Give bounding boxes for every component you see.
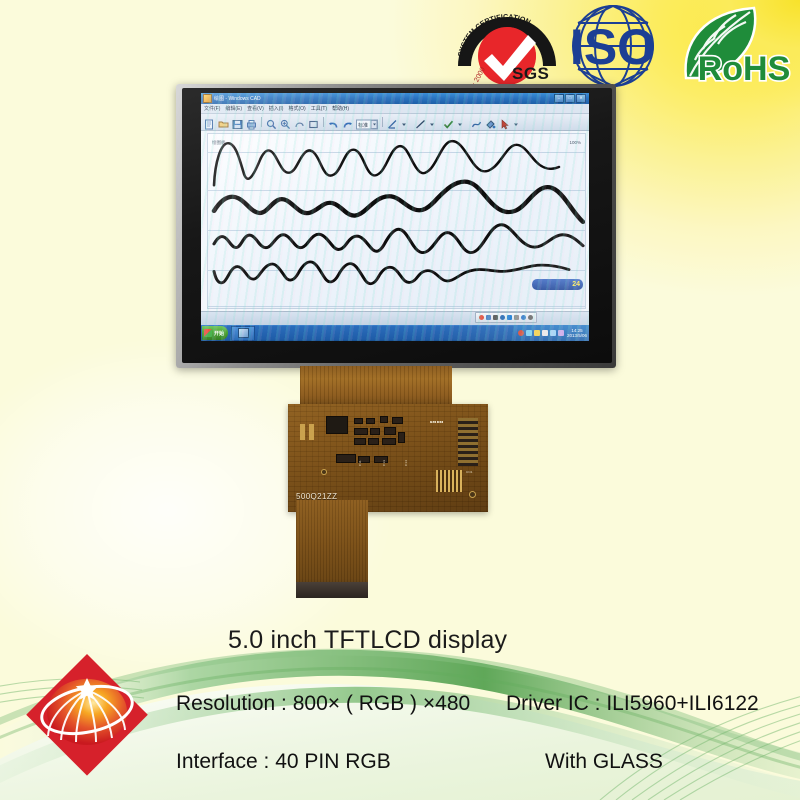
driver-pcb: R25 R26 R21 R14 R13 R18 R23 R24 R17 R19 … [288,404,488,512]
shield-icon[interactable] [526,330,532,336]
new-icon[interactable] [204,117,215,128]
taskbar-clock[interactable]: 14:25 2013/5/06 [567,328,587,338]
canvas-area[interactable]: 绘图板 100% 24 [201,131,589,311]
panel-icon[interactable] [514,315,519,320]
menu-file[interactable]: 文件(F) [204,105,220,112]
menu-format[interactable]: 格式(O) [288,105,305,112]
badge-value: 24 [572,281,580,288]
taskbar-window-button[interactable] [231,326,255,341]
silk-c11: C11 [358,460,362,466]
curve-icon[interactable] [471,117,482,128]
silk-c14: C14 [404,460,408,466]
window-title: 绘图 - Windows CAD [214,95,261,102]
download-icon[interactable] [507,315,512,320]
start-label: 开始 [214,330,224,337]
svg-text:标准: 标准 [358,122,368,129]
print-icon[interactable] [246,117,257,128]
company-logo [22,650,152,780]
close-button[interactable]: ✕ [576,94,586,103]
product-title: 5.0 inch TFTLCD display [228,626,507,655]
window-titlebar: 绘图 - Windows CAD – □ ✕ [201,93,589,104]
clock-date: 2013/5/06 [567,333,587,338]
iso-logo: ISO [558,2,668,90]
window-thumb-icon [238,328,249,338]
chevron-down-icon-4[interactable] [513,117,524,128]
chevron-down-icon-2[interactable] [429,117,440,128]
product-photo: SYSTEM CERTIFICATION ISO 9001: 2000 SGS … [0,0,800,800]
smd-8 [354,438,366,445]
toolbar[interactable]: 标准 [201,114,589,131]
fpc-connector-end [296,582,368,598]
save-icon[interactable] [232,117,243,128]
undo-shape-icon[interactable] [294,117,305,128]
menu-edit[interactable]: 编辑(E) [225,105,242,112]
style-combobox[interactable]: 标准 [356,117,378,128]
floating-badge[interactable]: 24 [532,279,583,290]
driver-ic-spec: Driver IC : ILI5960+ILI6122 [506,692,759,716]
zoom-icon[interactable] [280,117,291,128]
rect-icon[interactable] [308,117,319,128]
smd-4 [392,417,403,424]
menu-bar[interactable]: 文件(F) 编辑(E) 查看(V) 插入(I) 格式(O) 工具(T) 帮助(H… [201,104,589,114]
maximize-button[interactable]: □ [565,94,575,103]
search-icon[interactable] [266,117,277,128]
smd-9 [368,438,379,445]
document-page[interactable]: 绘图板 100% 24 [207,133,586,309]
fpc-ribbon-upper [300,366,452,408]
smd-5 [354,428,368,435]
waveform-drawing [208,134,585,308]
driver-ic [326,416,348,434]
volume-icon[interactable] [542,330,548,336]
interface-label: Interface : [176,750,269,773]
smd-7 [384,427,396,435]
silk-cn1: CN1 [466,470,473,474]
resolution-value: 800× ( RGB ) ×480 [293,692,470,715]
open-icon[interactable] [218,117,229,128]
undo-icon[interactable] [328,117,339,128]
ime-toolbar[interactable] [475,312,537,323]
fill-icon[interactable] [485,117,496,128]
via-hole-1 [322,470,326,474]
smd-1 [354,418,363,424]
chevron-down-icon-3[interactable] [457,117,468,128]
silk-c13: C13 [382,460,386,466]
windows-flag-icon [204,329,212,337]
keyboard-icon[interactable] [486,315,491,320]
silk-r22: R22 R27 [430,420,443,424]
smd-12 [336,454,356,463]
rohs-text: RoHS [698,50,791,88]
interface-value: 40 PIN RGB [275,750,391,773]
menu-view[interactable]: 查看(V) [247,105,264,112]
smd-10 [382,438,396,445]
app-icon [203,94,212,103]
network-icon[interactable] [518,330,524,336]
menu-tools[interactable]: 工具(T) [311,105,327,112]
via-hole-2 [470,492,475,497]
line-icon[interactable] [415,117,426,128]
resolution-label: Resolution : [176,692,287,715]
glass-spec: With GLASS [545,750,663,774]
settings-icon[interactable] [521,315,526,320]
lcd-screen: 绘图 - Windows CAD – □ ✕ 文件(F) 编辑(E) 查看(V)… [201,93,589,341]
menu-help[interactable]: 帮助(H) [332,105,349,112]
system-tray[interactable]: 14:25 2013/5/06 [514,325,589,341]
rohs-logo: RoHS [668,2,800,92]
start-button[interactable]: 开始 [202,326,228,340]
interface-spec: Interface : 40 PIN RGB [176,750,391,774]
lcd-module-frame: 绘图 - Windows CAD – □ ✕ 文件(F) 编辑(E) 查看(V)… [176,84,616,368]
ime-icon[interactable] [479,315,484,320]
pen-icon[interactable] [493,315,498,320]
toolbar-separator-2 [323,117,324,127]
solder-pad-1 [300,424,305,440]
usb-icon[interactable] [550,330,556,336]
angle-icon[interactable] [387,117,398,128]
windows-desktop: 绘图 - Windows CAD – □ ✕ 文件(F) 编辑(E) 查看(V)… [201,93,589,341]
menu-insert[interactable]: 插入(I) [269,105,284,112]
ime-tray-icon[interactable] [558,330,564,336]
more-icon[interactable] [528,315,533,320]
smd-2 [366,418,375,424]
window-controls[interactable]: – □ ✕ [554,94,587,103]
toolbar-separator-3 [382,117,383,127]
check-icon[interactable] [443,117,454,128]
sgs-label: SGS [512,64,549,84]
smd-3 [380,416,388,423]
battery-icon[interactable] [534,330,540,336]
minimize-button[interactable]: – [554,94,564,103]
sgs-logo: SYSTEM CERTIFICATION ISO 9001: 2000 SGS [448,2,566,92]
status-bar [201,311,589,325]
smd-11 [398,432,405,443]
toolbar-separator [261,117,262,127]
connector-pins [436,470,462,492]
chevron-down-icon[interactable] [401,117,412,128]
solder-pad-2 [309,424,314,440]
resistor-array [458,418,478,466]
smd-6 [370,428,380,435]
certification-logos: SYSTEM CERTIFICATION ISO 9001: 2000 SGS … [440,0,800,95]
iso-text: ISO [570,19,656,75]
taskbar[interactable]: 开始 14:25 2013/5/06 [201,325,589,341]
driver-label: Driver IC : [506,692,601,715]
redo-icon[interactable] [342,117,353,128]
pointer-icon[interactable] [499,117,510,128]
resolution-spec: Resolution : 800× ( RGB ) ×480 [176,692,470,716]
clock-small-icon[interactable] [500,315,505,320]
driver-value: ILI5960+ILI6122 [606,692,758,715]
fpc-traces-upper [300,366,452,408]
